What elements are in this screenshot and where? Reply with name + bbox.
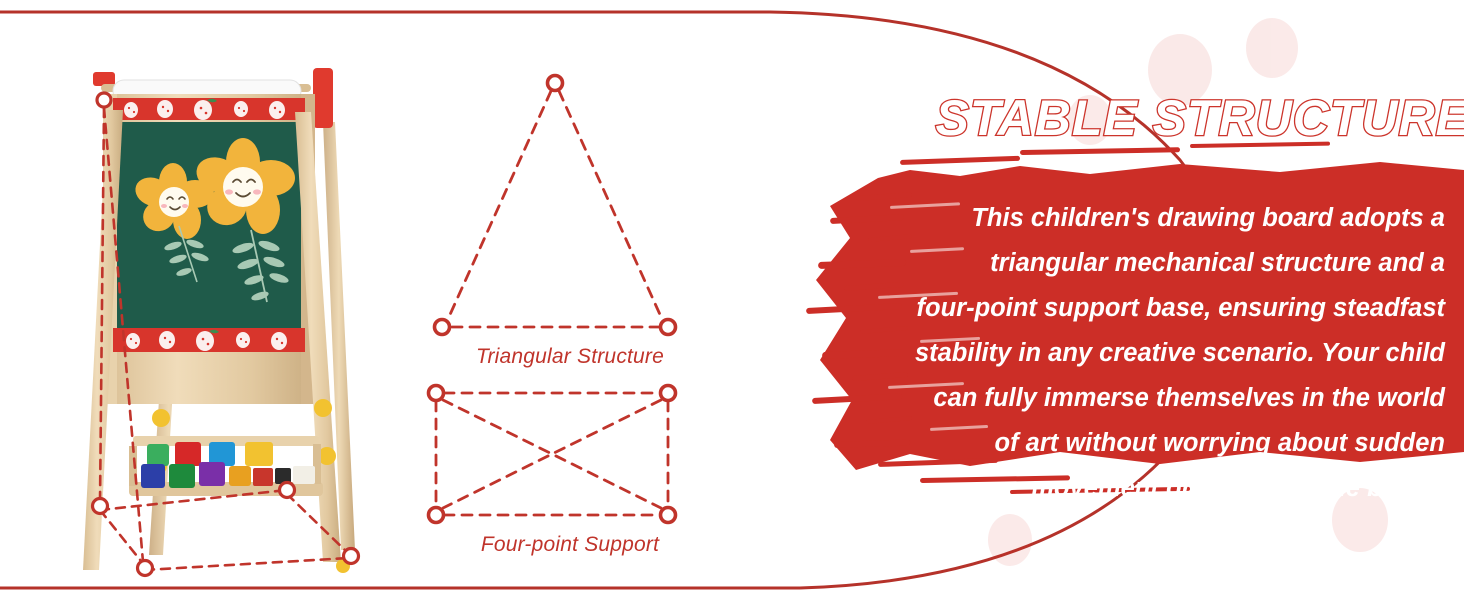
description-line: This children's drawing board adopts a xyxy=(880,196,1445,241)
triangular-structure-label: Triangular Structure xyxy=(410,345,730,369)
description-line: stability in any creative scenario. Your… xyxy=(880,331,1445,376)
four-point-node-bottom-right xyxy=(661,508,676,523)
trim-bottom-strawberry xyxy=(113,328,305,352)
four-point-support-label: Four-point Support xyxy=(410,533,730,557)
product-photo xyxy=(55,50,395,595)
diagram-svg xyxy=(410,55,730,575)
description-line: movement or tipping of the board. xyxy=(880,466,1445,511)
banner-root: Triangular Structure Four-point Support xyxy=(0,0,1464,600)
triangle-node-bottom-right xyxy=(661,320,676,335)
description-line: four-point support base, ensuring steadf… xyxy=(880,286,1445,331)
four-point-node-top-left xyxy=(429,386,444,401)
triangle-node-apex xyxy=(548,76,563,91)
easel-illustration xyxy=(55,50,395,595)
description-line: can fully immerse themselves in the worl… xyxy=(880,376,1445,421)
geometry-diagrams: Triangular Structure Four-point Support xyxy=(410,55,730,575)
triangle-diagram xyxy=(435,76,676,335)
trim-top-strawberry xyxy=(113,98,305,120)
page-title: STABLE STRUCTURE xyxy=(910,88,1464,148)
description-line: triangular mechanical structure and a xyxy=(880,241,1445,286)
description-text: This children's drawing board adopts a t… xyxy=(880,196,1445,511)
four-point-diagram xyxy=(429,386,676,523)
description-line: of art without worrying about sudden xyxy=(880,421,1445,466)
triangle-node-bottom-left xyxy=(435,320,450,335)
four-point-node-top-right xyxy=(661,386,676,401)
four-point-node-bottom-left xyxy=(429,508,444,523)
copy-panel: STABLE STRUCTURE This children's drawing… xyxy=(760,0,1464,600)
